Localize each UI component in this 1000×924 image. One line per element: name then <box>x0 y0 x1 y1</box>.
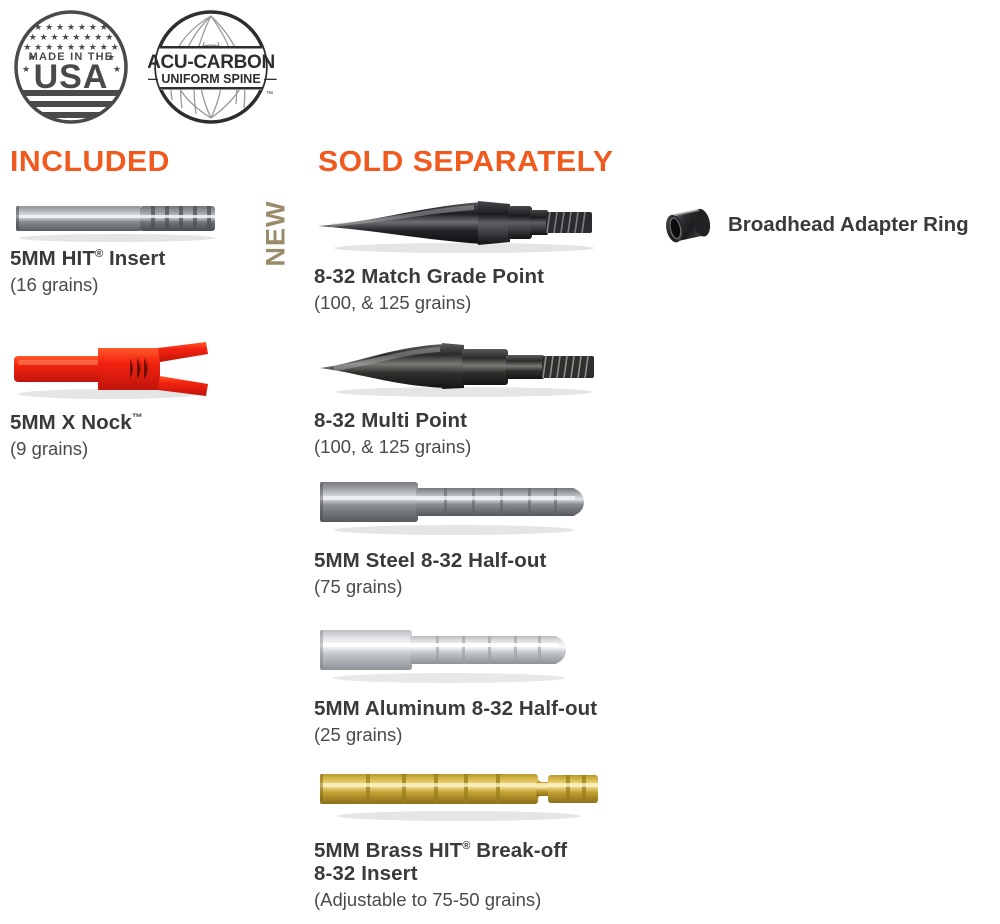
item-match-grade-point: 8-32 Match Grade Point (100, & 125 grain… <box>314 186 604 315</box>
acu-badge-line2: — UNIFORM SPINE — <box>148 72 277 86</box>
hit-insert-art-icon <box>10 196 225 242</box>
item-subtitle: (Adjustable to 75-50 grains) <box>314 887 604 912</box>
item-x-nock: 5MM X Nock™ (9 grains) <box>10 340 220 461</box>
item-hit-insert: 5MM HIT® Insert (16 grains) <box>10 196 225 297</box>
item-aluminum-half-out: 5MM Aluminum 8-32 Half-out (25 grains) <box>314 622 597 747</box>
match-grade-point-art-icon <box>314 186 604 258</box>
item-title: 5MM Steel 8-32 Half-out <box>314 548 594 573</box>
acu-badge-trademark: ™ <box>266 91 273 98</box>
certification-badges: ★ ★ ★ ★ ★ ★ ★ ★ ★ ★ ★ ★ ★ ★ ★ ★ ★ ★ ★ ★ … <box>12 8 266 126</box>
item-title: 8-32 Match Grade Point <box>314 264 604 289</box>
item-title: 5MM X Nock™ <box>10 406 220 435</box>
sold-separately-header: SOLD SEPARATELY <box>318 146 613 179</box>
brass-break-off-art-icon <box>314 764 604 826</box>
item-subtitle: (16 grains) <box>10 272 225 297</box>
item-subtitle: (75 grains) <box>314 574 594 599</box>
aluminum-half-out-art-icon <box>314 622 597 688</box>
x-nock-art-icon <box>10 340 220 402</box>
svg-text:★ ★ ★ ★ ★ ★ ★: ★ ★ ★ ★ ★ ★ ★ <box>34 23 108 33</box>
acu-badge-line1: ACU-CARBON <box>148 52 275 73</box>
item-subtitle: (9 grains) <box>10 436 220 461</box>
item-title: 5MM Brass HIT® Break-off <box>314 834 604 863</box>
item-subtitle: (100, & 125 grains) <box>314 290 604 315</box>
included-header: INCLUDED <box>10 146 170 179</box>
item-multi-point: 8-32 Multi Point (100, & 125 grains) <box>314 332 614 459</box>
svg-text:★: ★ <box>22 65 30 75</box>
broadhead-adapter-ring-art-icon <box>668 198 714 252</box>
item-title-line2: 8-32 Insert <box>314 861 604 886</box>
item-title: 8-32 Multi Point <box>314 408 614 433</box>
multi-point-art-icon <box>314 332 614 402</box>
acu-carbon-badge-icon: ACU-CARBON — UNIFORM SPINE — ™ <box>148 8 266 126</box>
item-broadhead-adapter-ring: Broadhead Adapter Ring <box>668 198 969 252</box>
steel-half-out-art-icon <box>314 474 594 540</box>
item-title: 5MM Aluminum 8-32 Half-out <box>314 696 597 721</box>
new-badge-label: NEW <box>258 186 292 266</box>
usa-badge-line2: USA <box>34 58 109 96</box>
broadhead-adapter-ring-label: Broadhead Adapter Ring <box>728 213 969 237</box>
made-in-usa-badge-icon: ★ ★ ★ ★ ★ ★ ★ ★ ★ ★ ★ ★ ★ ★ ★ ★ ★ ★ ★ ★ … <box>12 8 130 126</box>
item-title: 5MM HIT® Insert <box>10 242 225 271</box>
item-subtitle: (100, & 125 grains) <box>314 434 614 459</box>
product-component-chart: ★ ★ ★ ★ ★ ★ ★ ★ ★ ★ ★ ★ ★ ★ ★ ★ ★ ★ ★ ★ … <box>0 0 1000 924</box>
item-steel-half-out: 5MM Steel 8-32 Half-out (75 grains) <box>314 474 594 599</box>
item-subtitle: (25 grains) <box>314 722 597 747</box>
svg-text:★: ★ <box>113 65 121 75</box>
svg-text:★ ★ ★ ★ ★ ★ ★ ★: ★ ★ ★ ★ ★ ★ ★ ★ <box>29 33 114 43</box>
item-brass-break-off: 5MM Brass HIT® Break-off 8-32 Insert (Ad… <box>314 764 604 912</box>
